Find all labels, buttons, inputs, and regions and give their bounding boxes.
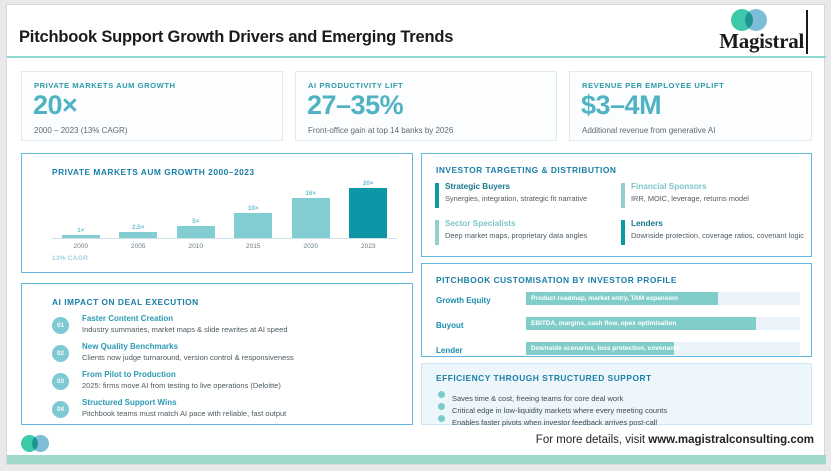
ai-impact-item: 04Structured Support WinsPitchbook teams… xyxy=(52,398,402,426)
ai-impact-heading: Structured Support Wins xyxy=(82,398,177,407)
customisation-track: Product roadmap, market entry, TAM expan… xyxy=(526,292,800,305)
kpi-card-aum-growth: PRIVATE MARKETS AUM GROWTH 20× 2000 – 20… xyxy=(21,71,283,141)
step-number-badge: 01 xyxy=(52,317,69,334)
step-number-badge: 02 xyxy=(52,345,69,362)
ai-impact-panel-title: AI IMPACT ON DEAL EXECUTION xyxy=(52,297,199,307)
investor-heading: Sector Specialists xyxy=(445,219,516,228)
footer-logo-icon xyxy=(21,435,55,452)
customisation-row-label: Growth Equity xyxy=(436,296,491,305)
bar-column: 16× xyxy=(289,188,333,238)
ai-impact-panel: AI IMPACT ON DEAL EXECUTION 01Faster Con… xyxy=(21,283,413,425)
ai-impact-heading: Faster Content Creation xyxy=(82,314,173,323)
efficiency-item: Enables faster pivots when investor feed… xyxy=(438,412,667,424)
bar-chart: 1×2.5×5×10×16×20× 2000200520102015202020… xyxy=(52,186,397,252)
kpi-subtext: 2000 – 2023 (13% CAGR) xyxy=(34,126,127,135)
investor-heading: Strategic Buyers xyxy=(445,182,510,191)
x-tick-label: 2005 xyxy=(116,243,160,250)
ai-impact-detail: 2025: firms move AI from testing to live… xyxy=(82,381,281,390)
bar-value-label: 10× xyxy=(231,205,275,212)
aum-growth-chart-panel: PRIVATE MARKETS AUM GROWTH 2000–2023 1×2… xyxy=(21,153,413,273)
x-tick-label: 2015 xyxy=(231,243,275,250)
investor-panel-title: INVESTOR TARGETING & DISTRIBUTION xyxy=(436,165,616,175)
logo-divider xyxy=(806,10,808,54)
logo-wordmark: Magistral xyxy=(700,29,804,54)
chart-bars: 1×2.5×5×10×16×20× xyxy=(52,186,397,238)
bottom-band xyxy=(7,455,826,464)
customisation-track: Downside scenarios, loss protection, cov… xyxy=(526,342,800,355)
customisation-panel-title: PITCHBOOK CUSTOMISATION BY INVESTOR PROF… xyxy=(436,275,677,285)
ai-impact-item: 03From Pilot to Production2025: firms mo… xyxy=(52,370,402,398)
bar xyxy=(234,213,272,238)
investor-detail: Synergies, integration, strategic fit na… xyxy=(445,194,587,203)
ai-impact-item: 01Faster Content CreationIndustry summar… xyxy=(52,314,402,342)
efficiency-text: Enables faster pivots when investor feed… xyxy=(452,418,657,427)
header: Pitchbook Support Growth Drivers and Eme… xyxy=(7,5,826,58)
bar-column: 20× xyxy=(346,178,390,238)
bar xyxy=(349,188,387,238)
investor-detail: Deep market maps, proprietary data angle… xyxy=(445,231,587,240)
bullet-dot-icon xyxy=(438,415,445,422)
kpi-value: 20× xyxy=(33,90,77,121)
investor-accent-bar xyxy=(621,220,625,245)
ai-impact-detail: Clients now judge turnaround, version co… xyxy=(82,353,294,362)
ai-impact-item: 02New Quality BenchmarksClients now judg… xyxy=(52,342,402,370)
bar-value-label: 5× xyxy=(174,218,218,225)
kpi-label: AI PRODUCTIVITY LIFT xyxy=(308,81,403,90)
investor-accent-bar xyxy=(435,183,439,208)
bar-value-label: 16× xyxy=(289,190,333,197)
logo-circles-icon xyxy=(731,9,775,31)
customisation-fill-text: Product roadmap, market entry, TAM expan… xyxy=(531,295,678,302)
investor-accent-bar xyxy=(621,183,625,208)
kpi-card-ai-productivity: AI PRODUCTIVITY LIFT 27–35% Front-office… xyxy=(295,71,557,141)
x-tick-label: 2000 xyxy=(59,243,103,250)
investor-detail: Downside protection, coverage ratios, co… xyxy=(631,231,804,240)
kpi-card-revenue-uplift: REVENUE PER EMPLOYEE UPLIFT $3–4M Additi… xyxy=(569,71,812,141)
step-number-badge: 04 xyxy=(52,401,69,418)
footer-url: www.magistralconsulting.com xyxy=(648,434,814,446)
kpi-value: 27–35% xyxy=(307,90,403,121)
investor-accent-bar xyxy=(435,220,439,245)
ai-impact-heading: New Quality Benchmarks xyxy=(82,342,178,351)
efficiency-item: Saves time & cost, freeing teams for cor… xyxy=(438,388,667,400)
ai-impact-detail: Industry summaries, market maps & slide … xyxy=(82,325,288,334)
investor-heading: Lenders xyxy=(631,219,663,228)
kpi-subtext: Additional revenue from generative AI xyxy=(582,126,715,135)
investor-targeting-panel: INVESTOR TARGETING & DISTRIBUTION Strate… xyxy=(421,153,812,257)
bar-column: 5× xyxy=(174,216,218,239)
chart-annotation: 13% CAGR xyxy=(52,255,88,262)
customisation-panel: PITCHBOOK CUSTOMISATION BY INVESTOR PROF… xyxy=(421,263,812,357)
efficiency-panel-title: EFFICIENCY THROUGH STRUCTURED SUPPORT xyxy=(436,373,652,383)
investor-heading: Financial Sponsors xyxy=(631,182,707,191)
customisation-fill-text: EBITDA, margins, cash flow, opex optimis… xyxy=(531,320,676,327)
bar xyxy=(177,226,215,239)
bullet-dot-icon xyxy=(438,391,445,398)
ai-impact-list: 01Faster Content CreationIndustry summar… xyxy=(52,314,402,426)
brand-logo: Magistral xyxy=(700,8,818,56)
ai-impact-detail: Pitchbook teams must match AI pace with … xyxy=(82,409,286,418)
kpi-label: PRIVATE MARKETS AUM GROWTH xyxy=(34,81,176,90)
customisation-fill-text: Downside scenarios, loss protection, cov… xyxy=(531,345,680,352)
chart-x-ticks: 200020052010201520202023 xyxy=(52,239,397,250)
bar-value-label: 1× xyxy=(59,227,103,234)
x-tick-label: 2010 xyxy=(174,243,218,250)
slide-canvas: Pitchbook Support Growth Drivers and Eme… xyxy=(6,4,825,465)
footer-cta: For more details, visit www.magistralcon… xyxy=(536,434,814,446)
kpi-value: $3–4M xyxy=(581,90,661,121)
bar-column: 2.5× xyxy=(116,222,160,238)
footer-prefix: For more details, visit xyxy=(536,434,648,446)
customisation-row-label: Lender xyxy=(436,346,463,355)
ai-impact-heading: From Pilot to Production xyxy=(82,370,176,379)
customisation-track: EBITDA, margins, cash flow, opex optimis… xyxy=(526,317,800,330)
bar-column: 1× xyxy=(59,225,103,238)
x-tick-label: 2020 xyxy=(289,243,333,250)
bar-value-label: 2.5× xyxy=(116,224,160,231)
bullet-dot-icon xyxy=(438,403,445,410)
customisation-row: Growth EquityProduct roadmap, market ent… xyxy=(436,292,801,310)
bar-value-label: 20× xyxy=(346,180,390,187)
bar xyxy=(292,198,330,238)
x-tick-label: 2023 xyxy=(346,243,390,250)
kpi-subtext: Front-office gain at top 14 banks by 202… xyxy=(308,126,453,135)
efficiency-panel: EFFICIENCY THROUGH STRUCTURED SUPPORT Sa… xyxy=(421,363,812,425)
customisation-row: LenderDownside scenarios, loss protectio… xyxy=(436,342,801,360)
bar-column: 10× xyxy=(231,203,275,238)
page-title: Pitchbook Support Growth Drivers and Eme… xyxy=(19,28,453,47)
investor-detail: IRR, MOIC, leverage, returns model xyxy=(631,194,749,203)
chart-title: PRIVATE MARKETS AUM GROWTH 2000–2023 xyxy=(52,167,255,177)
kpi-label: REVENUE PER EMPLOYEE UPLIFT xyxy=(582,81,724,90)
efficiency-list: Saves time & cost, freeing teams for cor… xyxy=(438,388,667,424)
step-number-badge: 03 xyxy=(52,373,69,390)
customisation-row-label: Buyout xyxy=(436,321,464,330)
customisation-row: BuyoutEBITDA, margins, cash flow, opex o… xyxy=(436,317,801,335)
efficiency-item: Critical edge in low-liquidity markets w… xyxy=(438,400,667,412)
